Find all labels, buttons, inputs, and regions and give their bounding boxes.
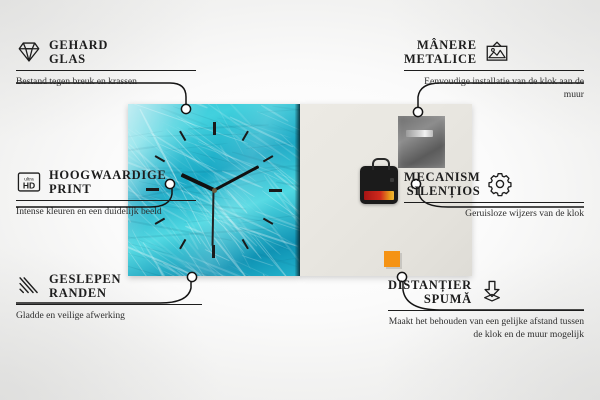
feature-title-line2: GLAS bbox=[49, 52, 86, 66]
feature-title: MECANISM SILENȚIOS bbox=[404, 170, 480, 198]
feature-divider bbox=[16, 70, 196, 71]
feature-title-line2: SILENȚIOS bbox=[407, 184, 481, 198]
feature-title-line2: RANDEN bbox=[49, 286, 107, 300]
quartz-mechanism bbox=[360, 166, 398, 204]
spacer-arrow-icon bbox=[479, 279, 505, 305]
feature-mecanism-silentios: MECANISM SILENȚIOS Geruisloze wijzers va… bbox=[404, 170, 584, 221]
ultra-hd-icon: ultra HD bbox=[16, 169, 42, 195]
feature-title: DISTANȚIER SPUMĂ bbox=[388, 278, 472, 306]
feature-divider bbox=[16, 304, 202, 305]
hanger-slot bbox=[406, 130, 433, 137]
feature-title-line1: MECANISM bbox=[404, 170, 480, 184]
feature-divider bbox=[404, 70, 584, 71]
feature-title-line2: METALICE bbox=[404, 52, 477, 66]
feature-title-line1: DISTANȚIER bbox=[388, 278, 472, 292]
feature-title: GEHARD GLAS bbox=[49, 38, 108, 66]
feature-subtitle: Bestand tegen breuk en krassen bbox=[16, 76, 196, 88]
feature-subtitle: Geruisloze wijzers van de klok bbox=[404, 208, 584, 220]
foam-spacer bbox=[384, 251, 400, 267]
feature-geslepen-randen: GESLEPEN RANDEN Gladde en veilige afwerk… bbox=[16, 272, 202, 323]
feature-gehard-glas: GEHARD GLAS Bestand tegen breuk en krass… bbox=[16, 38, 196, 89]
infographic-canvas: GEHARD GLAS Bestand tegen breuk en krass… bbox=[0, 0, 600, 400]
feature-title: MÂNERE METALICE bbox=[404, 38, 477, 66]
mechanism-shaft bbox=[372, 158, 390, 170]
picture-frame-icon bbox=[484, 39, 510, 65]
feature-hoogwaardige-print: ultra HD HOOGWAARDIGE PRINT Intense kleu… bbox=[16, 168, 196, 219]
feature-subtitle: Gladde en veilige afwerking bbox=[16, 310, 202, 322]
feature-title-line1: MÂNERE bbox=[417, 38, 477, 52]
feature-subtitle: Intense kleuren en een duidelijk beeld bbox=[16, 206, 196, 218]
feature-title-line1: GESLEPEN bbox=[49, 272, 121, 286]
gear-icon bbox=[487, 171, 513, 197]
feature-title: GESLEPEN RANDEN bbox=[49, 272, 121, 300]
battery bbox=[364, 191, 394, 200]
feature-divider bbox=[404, 202, 584, 203]
diamond-icon bbox=[16, 39, 42, 65]
mechanism-dial bbox=[390, 178, 394, 182]
feature-title-line2: SPUMĂ bbox=[424, 292, 472, 306]
feature-title-line2: PRINT bbox=[49, 182, 91, 196]
clock-hub bbox=[212, 188, 217, 193]
feature-title-line1: HOOGWAARDIGE bbox=[49, 168, 166, 182]
feature-subtitle: Eenvoudige installatie van de klok aan d… bbox=[404, 76, 584, 100]
feature-title: HOOGWAARDIGE PRINT bbox=[49, 168, 166, 196]
feature-manere-metalice: MÂNERE METALICE Eenvoudige installatie v… bbox=[404, 38, 584, 101]
feature-distantier-spuma: DISTANȚIER SPUMĂ Maakt het behouden van … bbox=[388, 278, 584, 341]
svg-text:HD: HD bbox=[23, 181, 35, 191]
feature-subtitle: Maakt het behouden van een gelijke afsta… bbox=[388, 316, 584, 340]
bevelled-edges-icon bbox=[16, 273, 42, 299]
feature-divider bbox=[16, 200, 196, 201]
feature-divider bbox=[388, 310, 584, 311]
feature-title-line1: GEHARD bbox=[49, 38, 108, 52]
metal-hanger-icon bbox=[398, 116, 445, 168]
